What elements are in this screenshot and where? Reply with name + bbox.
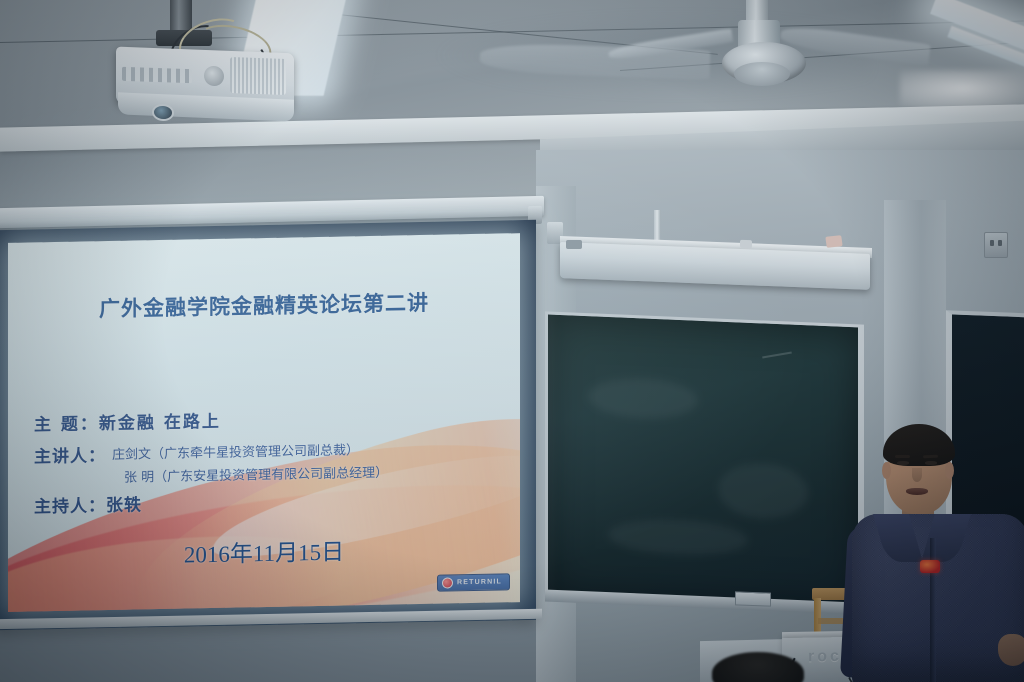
- speaker-ear: [945, 462, 954, 479]
- light-glow: [900, 70, 1024, 116]
- slide-text-content: 广外金融学院金融精英论坛第二讲 主 题：新金融 在路上 主讲人： 庄剑文（广东牵…: [8, 233, 520, 612]
- outlet-slot: [998, 240, 1002, 246]
- speaker-nose: [912, 468, 922, 482]
- speaker-mouth: [906, 488, 928, 495]
- chalk-smudge: [608, 517, 748, 558]
- outlet-slot: [990, 240, 994, 246]
- returnil-label: RETURNIL: [457, 578, 502, 586]
- ceiling-fan-icon: [660, 0, 910, 100]
- slide-host-line: 主持人：张轶: [34, 490, 142, 517]
- slide-speaker-label: 主讲人：: [34, 441, 106, 467]
- chalk-smudge: [588, 376, 698, 421]
- projector-ports: [122, 67, 192, 83]
- projector-vent: [230, 57, 286, 95]
- speaker-eye: [897, 461, 909, 465]
- slide-speaker-2: 张 明（广东安星投资管理有限公司副总经理）: [124, 462, 388, 486]
- projector-lens: [152, 104, 174, 122]
- wall-outlet-icon[interactable]: [984, 232, 1008, 258]
- speaker-hair: [883, 424, 955, 466]
- speaker-eye: [925, 461, 937, 465]
- speaker-eyebrow: [895, 455, 910, 458]
- chalk-piece: [740, 240, 752, 248]
- speaker-ear: [882, 462, 891, 479]
- chalk-piece: [825, 235, 842, 248]
- slide-date: 2016年11月15日: [8, 529, 520, 573]
- speaker-eyebrow: [923, 455, 938, 459]
- chalk-mark: [762, 352, 792, 359]
- blackboard: [545, 311, 864, 610]
- returnil-watermark-badge: RETURNIL: [437, 573, 510, 591]
- fan-hub-cap: [734, 62, 790, 86]
- ceiling-projector-icon: [108, 0, 318, 130]
- board-light-bracket: [566, 240, 582, 249]
- blackboard-eraser: [735, 591, 771, 606]
- returnil-logo-icon: [442, 577, 453, 588]
- slide-topic-line: 主 题：新金融 在路上: [34, 407, 221, 436]
- slide-speaker-1: 庄剑文（广东牵牛星投资管理公司副总裁）: [112, 439, 359, 463]
- speaker-hand: [998, 634, 1024, 666]
- projected-slide: 广外金融学院金融精英论坛第二讲 主 题：新金融 在路上 主讲人： 庄剑文（广东牵…: [8, 233, 520, 612]
- standing-speaker: [846, 418, 1024, 682]
- slide-title: 广外金融学院金融精英论坛第二讲: [8, 285, 520, 325]
- classroom-photo: 广外金融学院金融精英论坛第二讲 主 题：新金融 在路上 主讲人： 庄剑文（广东牵…: [0, 0, 1024, 682]
- lapel-pin-icon: [920, 560, 940, 573]
- projector-focus-knob: [204, 66, 224, 87]
- chalk-smudge: [718, 462, 808, 521]
